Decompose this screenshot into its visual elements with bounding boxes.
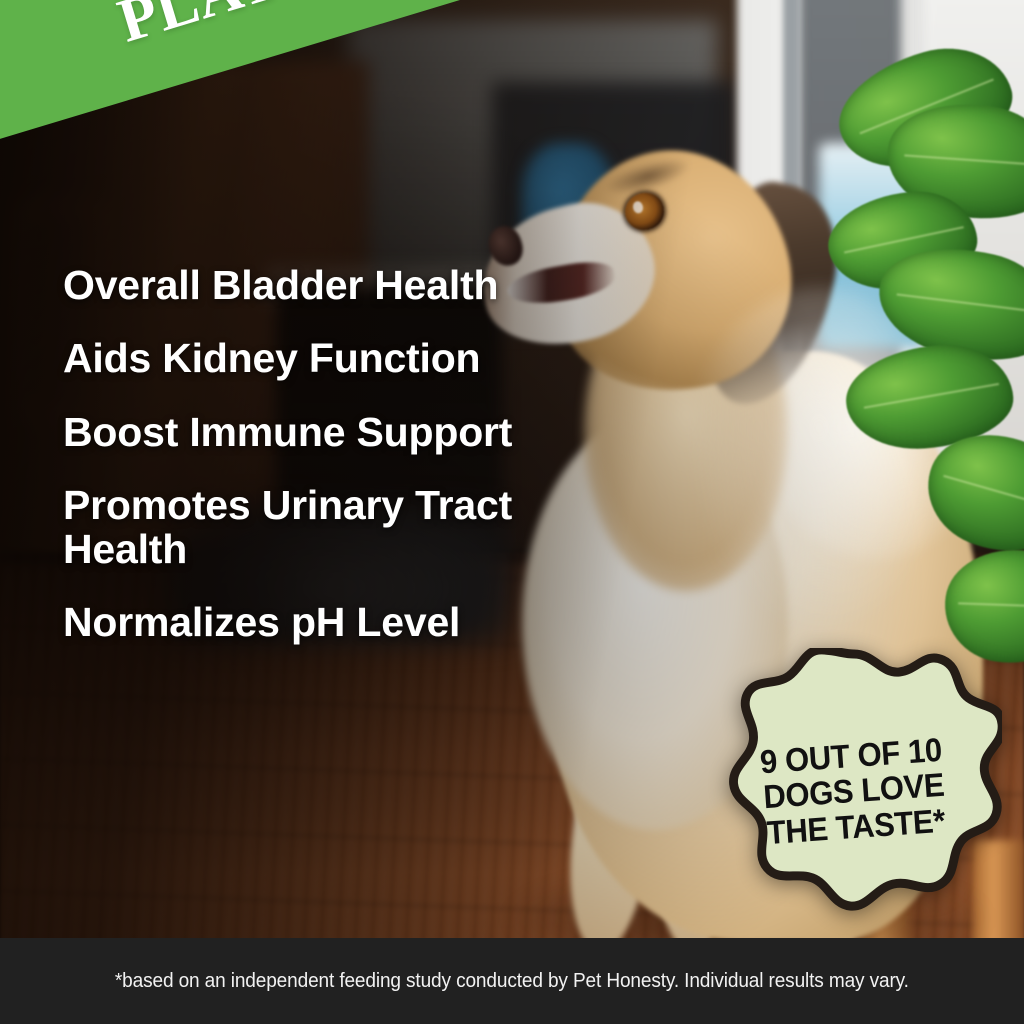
- disclaimer-bar: *based on an independent feeding study c…: [0, 938, 1024, 1024]
- taste-claim-badge: 9 OUT OF 10 DOGS LOVE THE TASTE*: [706, 648, 1002, 948]
- disclaimer-text: *based on an independent feeding study c…: [115, 969, 909, 993]
- benefit-item: Promotes Urinary Tract Health: [63, 484, 533, 571]
- benefit-item: Boost Immune Support: [63, 411, 533, 454]
- badge-text: 9 OUT OF 10 DOGS LOVE THE TASTE*: [696, 638, 1012, 958]
- benefit-item: Aids Kidney Function: [63, 337, 533, 380]
- benefit-item: Overall Bladder Health: [63, 264, 533, 307]
- benefit-item: Normalizes pH Level: [63, 601, 533, 644]
- promo-graphic: GET BACK TO PLAYING! Overall Bladder Hea…: [0, 0, 1024, 1024]
- benefits-list: Overall Bladder Health Aids Kidney Funct…: [63, 264, 533, 645]
